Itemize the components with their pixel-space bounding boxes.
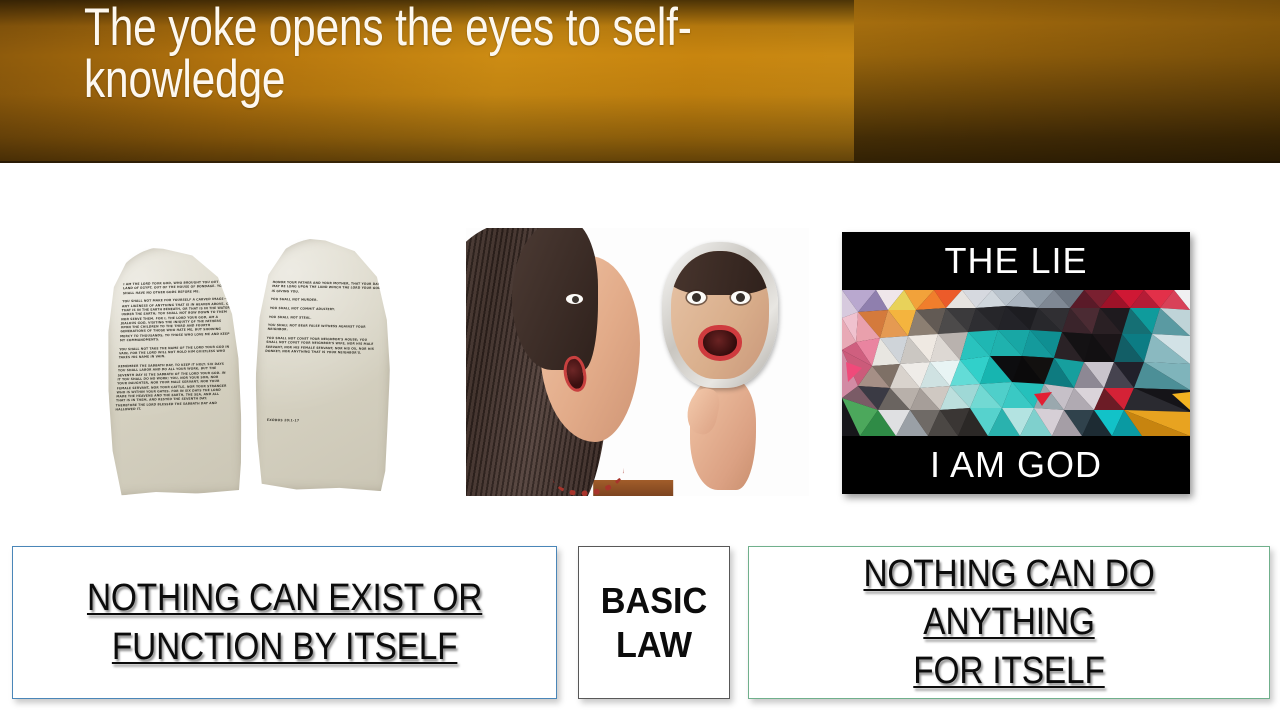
reflection-pupil-right <box>736 293 745 302</box>
banner-bottom-edge <box>0 161 1280 163</box>
tablet-scripture-reference: EXODUS 20:1-17 <box>267 418 300 423</box>
title-banner: The yoke opens the eyes to self-knowledg… <box>0 0 1280 163</box>
tablet-right-text: HONOR YOUR FATHER AND YOUR MOTHER, THAT … <box>265 280 385 355</box>
reflection-pupil-left <box>692 293 701 302</box>
the-lie-eye-image[interactable]: THE LIE <box>842 232 1190 494</box>
reflection-hair <box>671 251 769 295</box>
woman-hair-front <box>512 228 598 370</box>
basic-law-box[interactable]: BASIC LAW <box>578 546 730 699</box>
stone-tablet-left: I AM THE LORD YOUR GOD, WHO BROUGHT YOU … <box>105 244 243 495</box>
reflection-open-mouth <box>698 325 742 361</box>
ten-commandments-tablets-image[interactable]: I AM THE LORD YOUR GOD, WHO BROUGHT YOU … <box>96 228 422 508</box>
left-statement-text: NOTHING CAN EXIST OR FUNCTION BY ITSELF <box>87 574 482 671</box>
low-poly-eye-graphic <box>842 290 1190 436</box>
tablet-left-text: I AM THE LORD YOUR GOD, WHO BROUGHT YOU … <box>115 279 234 411</box>
right-statement-text: NOTHING CAN DO ANYTHING FOR ITSELF <box>780 550 1238 696</box>
slide-canvas: The yoke opens the eyes to self-knowledg… <box>0 0 1280 720</box>
stone-tablet-right: HONOR YOUR FATHER AND YOUR MOTHER, THAT … <box>254 237 393 492</box>
left-statement-box[interactable]: NOTHING CAN EXIST OR FUNCTION BY ITSELF <box>12 546 557 699</box>
right-statement-box[interactable]: NOTHING CAN DO ANYTHING FOR ITSELF <box>748 546 1270 699</box>
mirror-glass <box>671 251 769 379</box>
woman-pupil <box>572 296 579 303</box>
page-title: The yoke opens the eyes to self-knowledg… <box>84 2 700 106</box>
woman-mirror-photo[interactable] <box>466 228 809 496</box>
the-lie-caption: THE LIE <box>842 232 1190 290</box>
banner-right-panel <box>854 0 1280 163</box>
i-am-god-caption: I AM GOD <box>842 436 1190 494</box>
basic-law-text: BASIC LAW <box>601 579 707 667</box>
